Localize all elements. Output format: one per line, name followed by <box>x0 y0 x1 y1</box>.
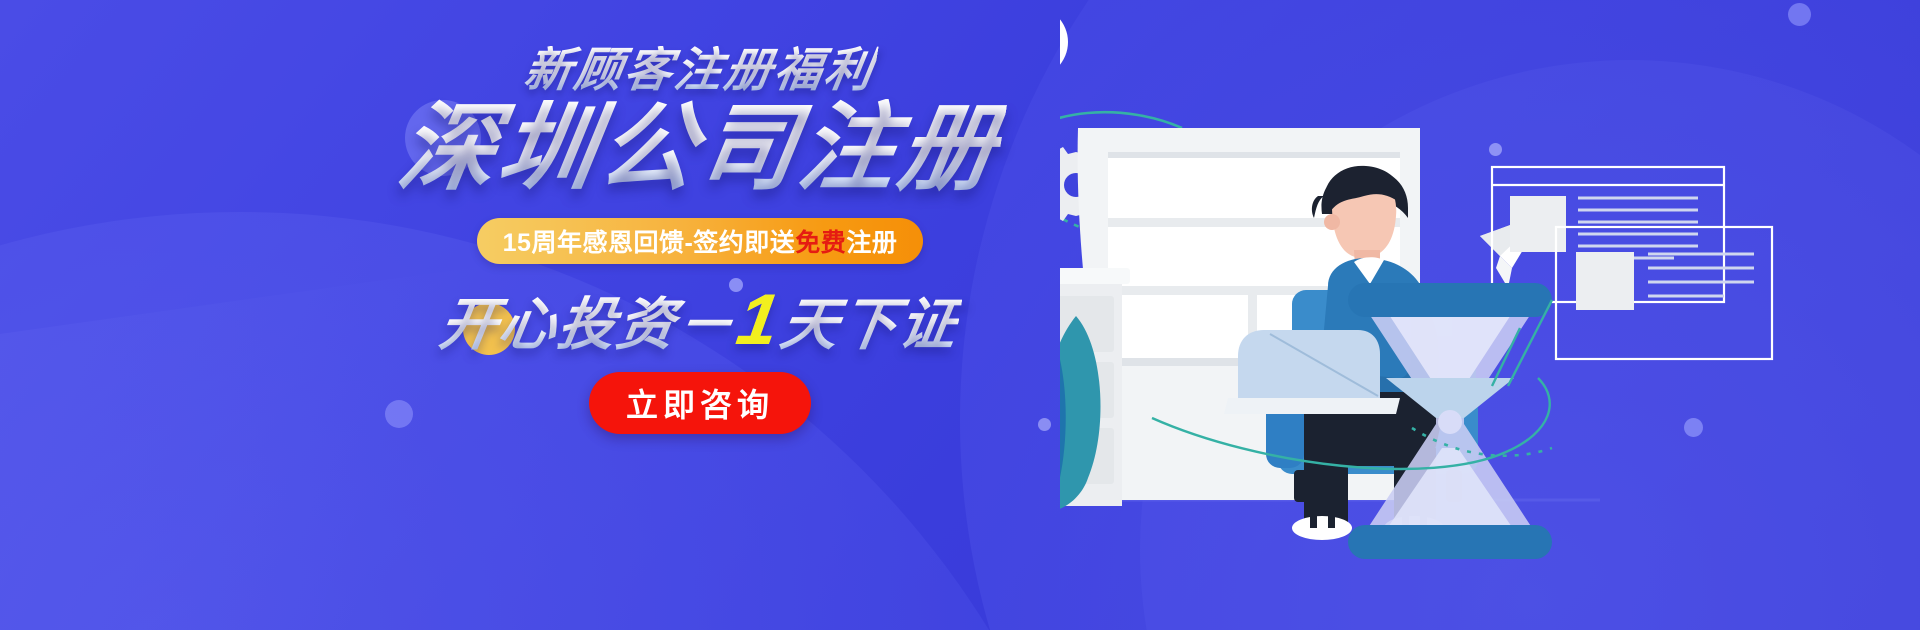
promo-pill-highlight: 免费 <box>795 223 846 259</box>
headline-row: 深圳公司注册 <box>330 93 1070 200</box>
tagline-suffix: 天下证 <box>776 293 963 357</box>
banner-copy: 新顾客注册福利 深圳公司注册 15周年感恩回馈-签约即送免费注册 开心投资－1天… <box>330 46 1070 434</box>
tagline-prefix: 开心投资－ <box>435 293 740 357</box>
tagline-row: 开心投资－1天下证 <box>330 264 1070 356</box>
banner-eyebrow: 新顾客注册福利 <box>521 46 878 93</box>
promo-pill-suffix: 注册 <box>846 223 897 259</box>
consult-now-button[interactable]: 立即咨询 <box>589 372 811 434</box>
banner-tagline: 开心投资－1天下证 <box>435 284 964 356</box>
laptop <box>1224 330 1400 414</box>
hourglass-cap-bottom <box>1348 525 1552 559</box>
promo-pill: 15周年感恩回馈-签约即送免费注册 <box>477 218 924 264</box>
hourglass-cap-top <box>1348 283 1552 317</box>
promo-pill-prefix: 15周年感恩回馈-签约即送 <box>503 223 796 259</box>
banner-headline: 深圳公司注册 <box>392 99 1008 200</box>
promo-banner: 新顾客注册福利 深圳公司注册 15周年感恩回馈-签约即送免费注册 开心投资－1天… <box>0 0 1920 630</box>
cta-row: 立即咨询 <box>330 356 1070 434</box>
eyebrow-row: 新顾客注册福利 <box>330 46 1070 93</box>
promo-pill-row: 15周年感恩回馈-签约即送免费注册 <box>330 200 1070 264</box>
hero-illustration <box>1060 0 1920 630</box>
